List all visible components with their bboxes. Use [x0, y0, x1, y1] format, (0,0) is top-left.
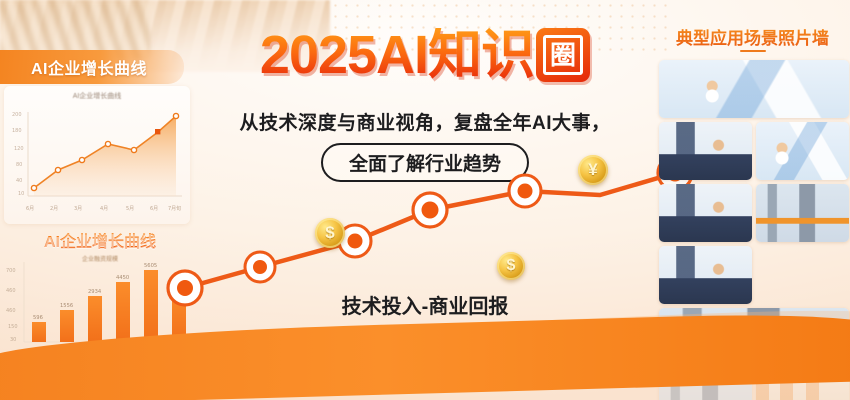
poster-canvas: AI企业增长曲线 AI企业增长曲线 2 [0, 0, 850, 400]
title-badge-circle: 圈 [536, 28, 590, 82]
poster-title-text: 2025AI知识 [260, 28, 534, 82]
coin-dollar-mid-right: $ [497, 252, 525, 280]
photo-engineer-laptop[interactable] [659, 246, 752, 304]
coin-dollar-mid-left: $ [315, 218, 345, 248]
svg-text:700: 700 [6, 268, 16, 274]
svg-text:10: 10 [18, 191, 24, 197]
coin-yen-top: ¥ [578, 155, 608, 185]
svg-text:6月: 6月 [26, 206, 34, 212]
title-badge-char: 圈 [543, 35, 583, 75]
svg-text:120: 120 [14, 146, 24, 152]
photo-office-desk[interactable] [659, 184, 752, 242]
photo-lab-equipment[interactable] [659, 122, 752, 180]
svg-text:4月: 4月 [100, 206, 108, 212]
svg-text:40: 40 [16, 178, 22, 184]
svg-text:150: 150 [8, 324, 18, 330]
svg-text:30: 30 [10, 337, 16, 343]
photo-lab-inspect[interactable] [756, 122, 849, 180]
right-panel-rule [740, 50, 766, 52]
svg-text:3月: 3月 [74, 206, 82, 212]
svg-text:2月: 2月 [50, 206, 58, 212]
svg-text:80: 80 [16, 162, 22, 168]
svg-text:5月: 5月 [126, 206, 134, 212]
right-panel-title: 典型应用场景照片墙 [655, 24, 850, 49]
trend-nodes [168, 156, 692, 305]
svg-text:4450: 4450 [116, 275, 129, 281]
photo-lab-doctors[interactable] [659, 60, 849, 118]
photo-office-open[interactable] [756, 184, 849, 242]
